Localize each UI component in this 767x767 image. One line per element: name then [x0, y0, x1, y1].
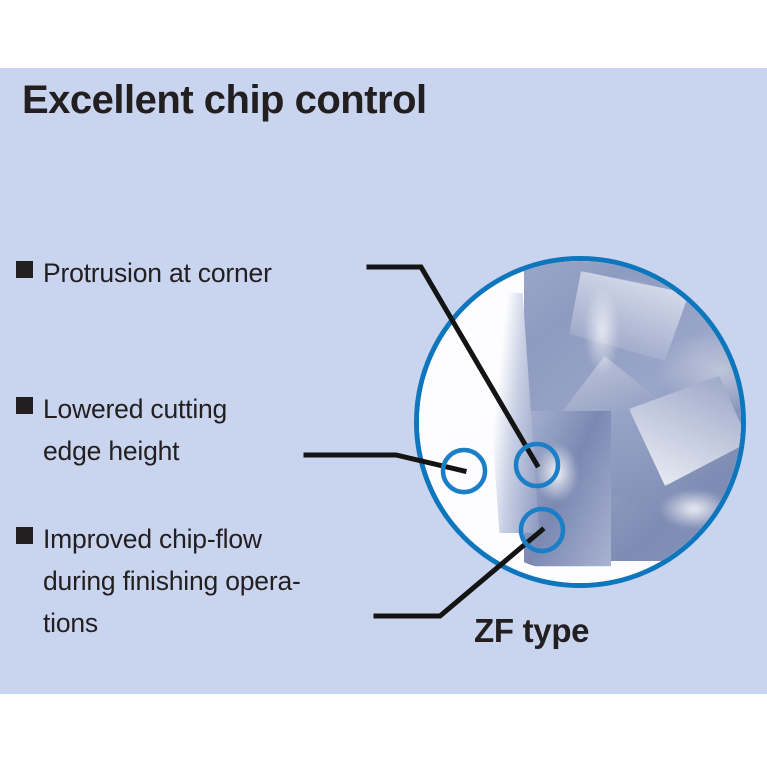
bullet-item-lowered-cutting-edge: Lowered cutting edge height: [16, 388, 227, 472]
specular-highlight: [535, 443, 579, 503]
specular-highlight: [584, 286, 620, 376]
bullet-label: Protrusion at corner: [43, 252, 272, 294]
square-bullet-icon: [16, 527, 33, 544]
bullet-label: Improved chip-flow during finishing oper…: [43, 518, 301, 644]
bullet-label: Lowered cutting edge height: [43, 388, 227, 472]
slide-canvas: Excellent chip control Protrusion at cor…: [0, 0, 767, 767]
magnifier-caption: ZF type: [474, 612, 589, 650]
bullet-item-improved-chip-flow: Improved chip-flow during finishing oper…: [16, 518, 301, 644]
specular-highlight: [659, 489, 729, 529]
page-title: Excellent chip control: [22, 78, 427, 123]
square-bullet-icon: [16, 261, 33, 278]
bullet-item-protrusion: Protrusion at corner: [16, 252, 272, 294]
insert-corner-photo: [419, 261, 741, 583]
square-bullet-icon: [16, 397, 33, 414]
magnifier-circle: [414, 256, 746, 588]
